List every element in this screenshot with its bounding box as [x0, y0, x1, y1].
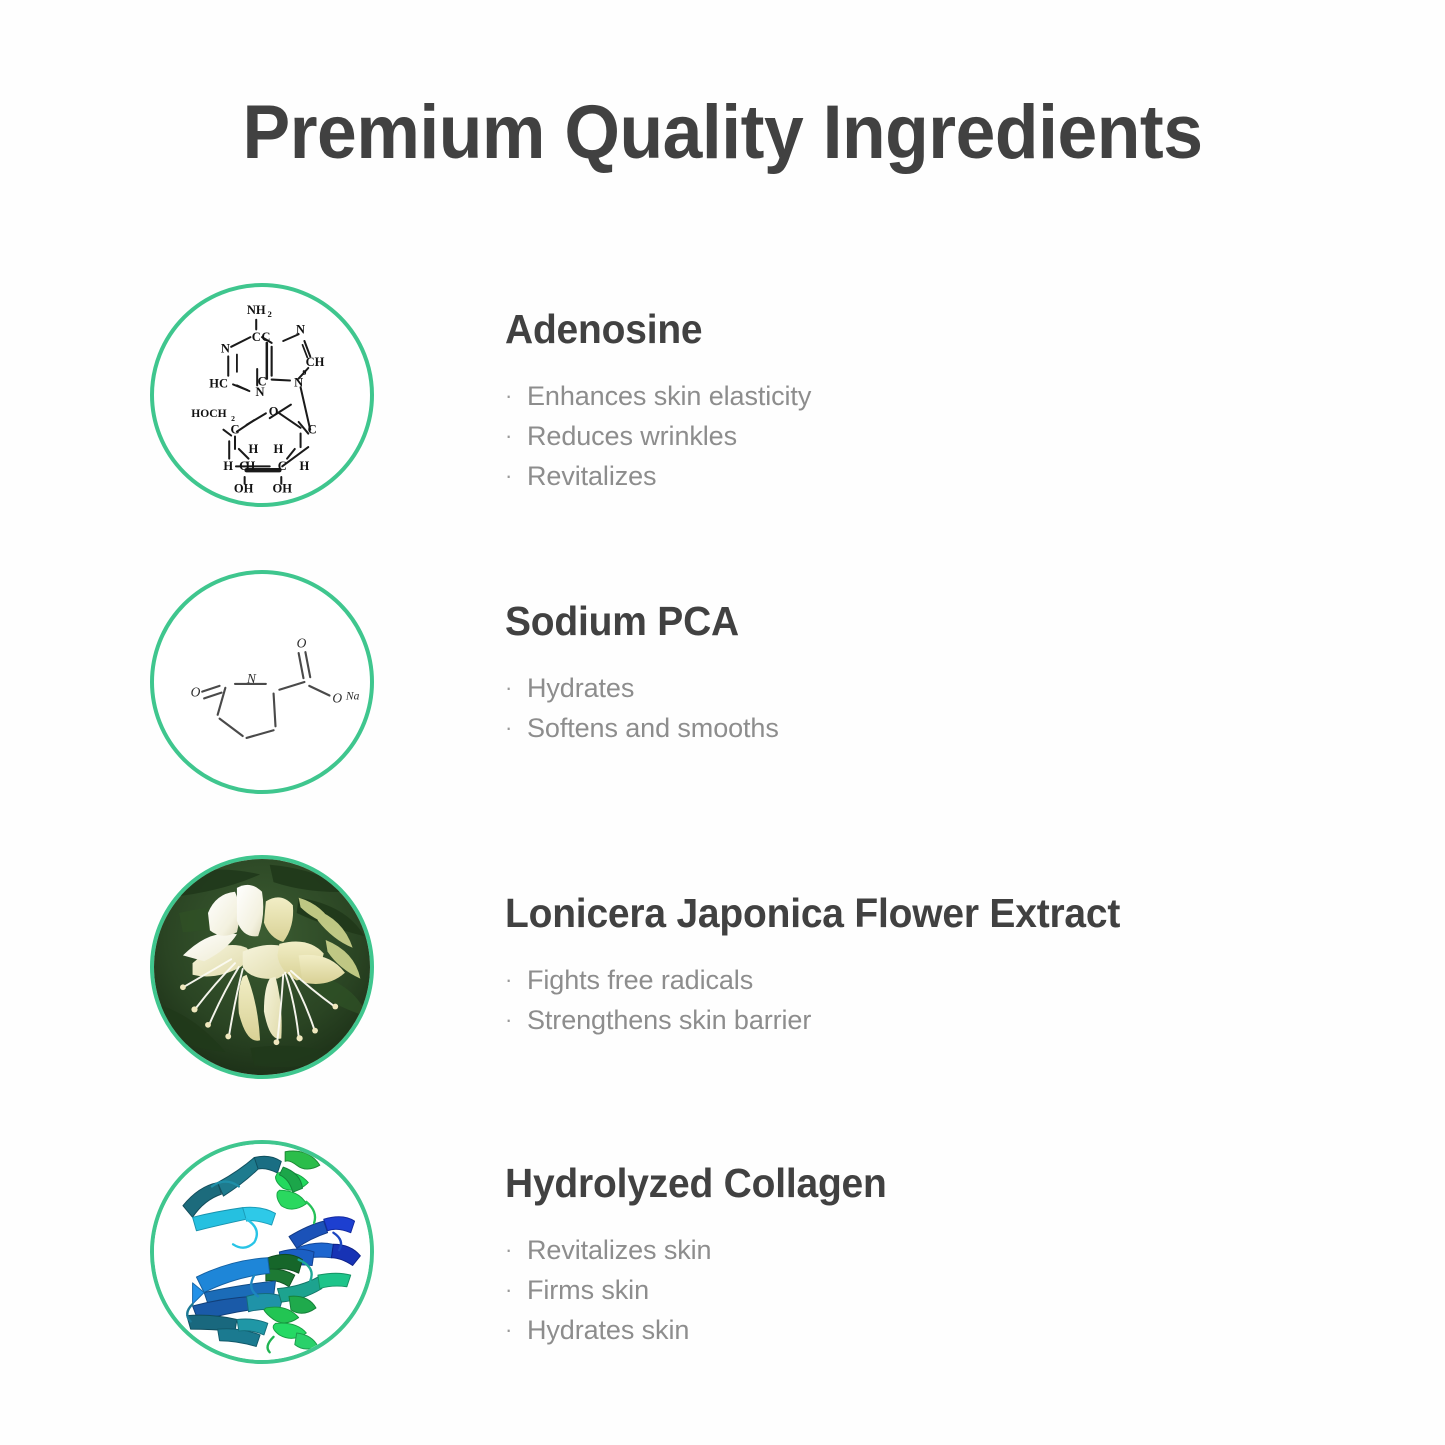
svg-text:CH: CH: [306, 355, 325, 369]
benefit-item: ·Revitalizes skin: [505, 1230, 1405, 1270]
benefit-list: ·Hydrates ·Softens and smooths: [505, 668, 1405, 748]
svg-text:HOCH: HOCH: [191, 407, 226, 420]
ingredient-name: Hydrolyzed Collagen: [505, 1160, 1360, 1206]
sodium-pca-molecule-icon: O N O O Na: [150, 570, 374, 794]
benefit-item: ·Softens and smooths: [505, 708, 1405, 748]
svg-text:Na: Na: [345, 689, 360, 702]
bullet-marker-icon: ·: [505, 416, 527, 455]
benefit-label: Revitalizes skin: [527, 1235, 711, 1265]
ingredients-infographic: Premium Quality Ingredients: [0, 0, 1445, 1445]
svg-text:C: C: [261, 330, 270, 344]
ingredient-name: Adenosine: [505, 306, 1360, 352]
ingredient-name: Lonicera Japonica Flower Extract: [505, 890, 1360, 936]
sodium-pca-structure-svg: O N O O Na: [154, 574, 370, 790]
benefit-label: Reduces wrinkles: [527, 421, 737, 451]
svg-text:O: O: [191, 684, 201, 699]
svg-text:N: N: [294, 375, 303, 389]
benefit-label: Fights free radicals: [527, 965, 753, 995]
svg-text:C: C: [230, 423, 239, 437]
bullet-marker-icon: ·: [505, 1000, 527, 1039]
benefit-label: Softens and smooths: [527, 713, 779, 743]
bullet-marker-icon: ·: [505, 1270, 527, 1309]
bullet-marker-icon: ·: [505, 456, 527, 495]
adenosine-molecule-icon: NH 2 C N HC N C C N CH N 9 HOCH 2: [150, 283, 374, 507]
collagen-ribbon-svg: [154, 1144, 370, 1360]
svg-text:9: 9: [302, 368, 306, 377]
svg-text:O: O: [332, 690, 342, 705]
benefit-list: ·Enhances skin elasticity ·Reduces wrink…: [505, 376, 1405, 496]
svg-text:O: O: [269, 404, 279, 418]
honeysuckle-flower-svg: [154, 859, 370, 1075]
bullet-marker-icon: ·: [505, 668, 527, 707]
benefit-item: ·Hydrates skin: [505, 1310, 1405, 1350]
svg-text:N: N: [296, 322, 305, 336]
svg-text:H: H: [223, 459, 233, 473]
svg-text:C: C: [252, 330, 261, 344]
benefit-item: ·Firms skin: [505, 1270, 1405, 1310]
page-title: Premium Quality Ingredients: [43, 88, 1401, 178]
benefit-list: ·Fights free radicals ·Strengthens skin …: [505, 960, 1405, 1040]
svg-text:O: O: [297, 635, 307, 650]
ingredient-text-block: Sodium PCA ·Hydrates ·Softens and smooth…: [505, 598, 1405, 748]
svg-text:C: C: [239, 459, 248, 473]
svg-text:H: H: [274, 442, 284, 456]
svg-text:H: H: [300, 459, 310, 473]
honeysuckle-flower-icon: [150, 855, 374, 1079]
svg-text:N: N: [221, 342, 230, 356]
svg-text:HC: HC: [209, 376, 228, 390]
ingredient-text-block: Hydrolyzed Collagen ·Revitalizes skin ·F…: [505, 1160, 1405, 1350]
svg-text:N: N: [246, 671, 257, 686]
svg-text:2: 2: [268, 309, 272, 319]
svg-text:OH: OH: [234, 481, 254, 495]
benefit-list: ·Revitalizes skin ·Firms skin ·Hydrates …: [505, 1230, 1405, 1350]
svg-text:C: C: [278, 459, 287, 473]
benefit-label: Strengthens skin barrier: [527, 1005, 811, 1035]
ingredient-text-block: Adenosine ·Enhances skin elasticity ·Red…: [505, 306, 1405, 496]
benefit-label: Revitalizes: [527, 461, 656, 491]
bullet-marker-icon: ·: [505, 708, 527, 747]
svg-text:C: C: [257, 374, 266, 388]
benefit-item: ·Fights free radicals: [505, 960, 1405, 1000]
benefit-label: Hydrates skin: [527, 1315, 689, 1345]
benefit-label: Hydrates: [527, 673, 634, 703]
benefit-label: Enhances skin elasticity: [527, 381, 811, 411]
adenosine-structure-svg: NH 2 C N HC N C C N CH N 9 HOCH 2: [154, 287, 370, 503]
ingredient-text-block: Lonicera Japonica Flower Extract ·Fights…: [505, 890, 1405, 1040]
svg-text:H: H: [248, 442, 258, 456]
bullet-marker-icon: ·: [505, 1310, 527, 1349]
benefit-item: ·Revitalizes: [505, 456, 1405, 496]
bullet-marker-icon: ·: [505, 1230, 527, 1269]
collagen-protein-icon: [150, 1140, 374, 1364]
svg-text:C: C: [308, 423, 317, 437]
benefit-item: ·Reduces wrinkles: [505, 416, 1405, 456]
benefit-item: ·Enhances skin elasticity: [505, 376, 1405, 416]
benefit-item: ·Strengthens skin barrier: [505, 1000, 1405, 1040]
benefit-item: ·Hydrates: [505, 668, 1405, 708]
bullet-marker-icon: ·: [505, 960, 527, 999]
ingredient-name: Sodium PCA: [505, 598, 1360, 644]
svg-text:NH: NH: [247, 303, 266, 317]
ingredient-list: NH 2 C N HC N C C N CH N 9 HOCH 2: [0, 270, 1445, 1420]
benefit-label: Firms skin: [527, 1275, 649, 1305]
svg-text:OH: OH: [273, 481, 293, 495]
bullet-marker-icon: ·: [505, 376, 527, 415]
